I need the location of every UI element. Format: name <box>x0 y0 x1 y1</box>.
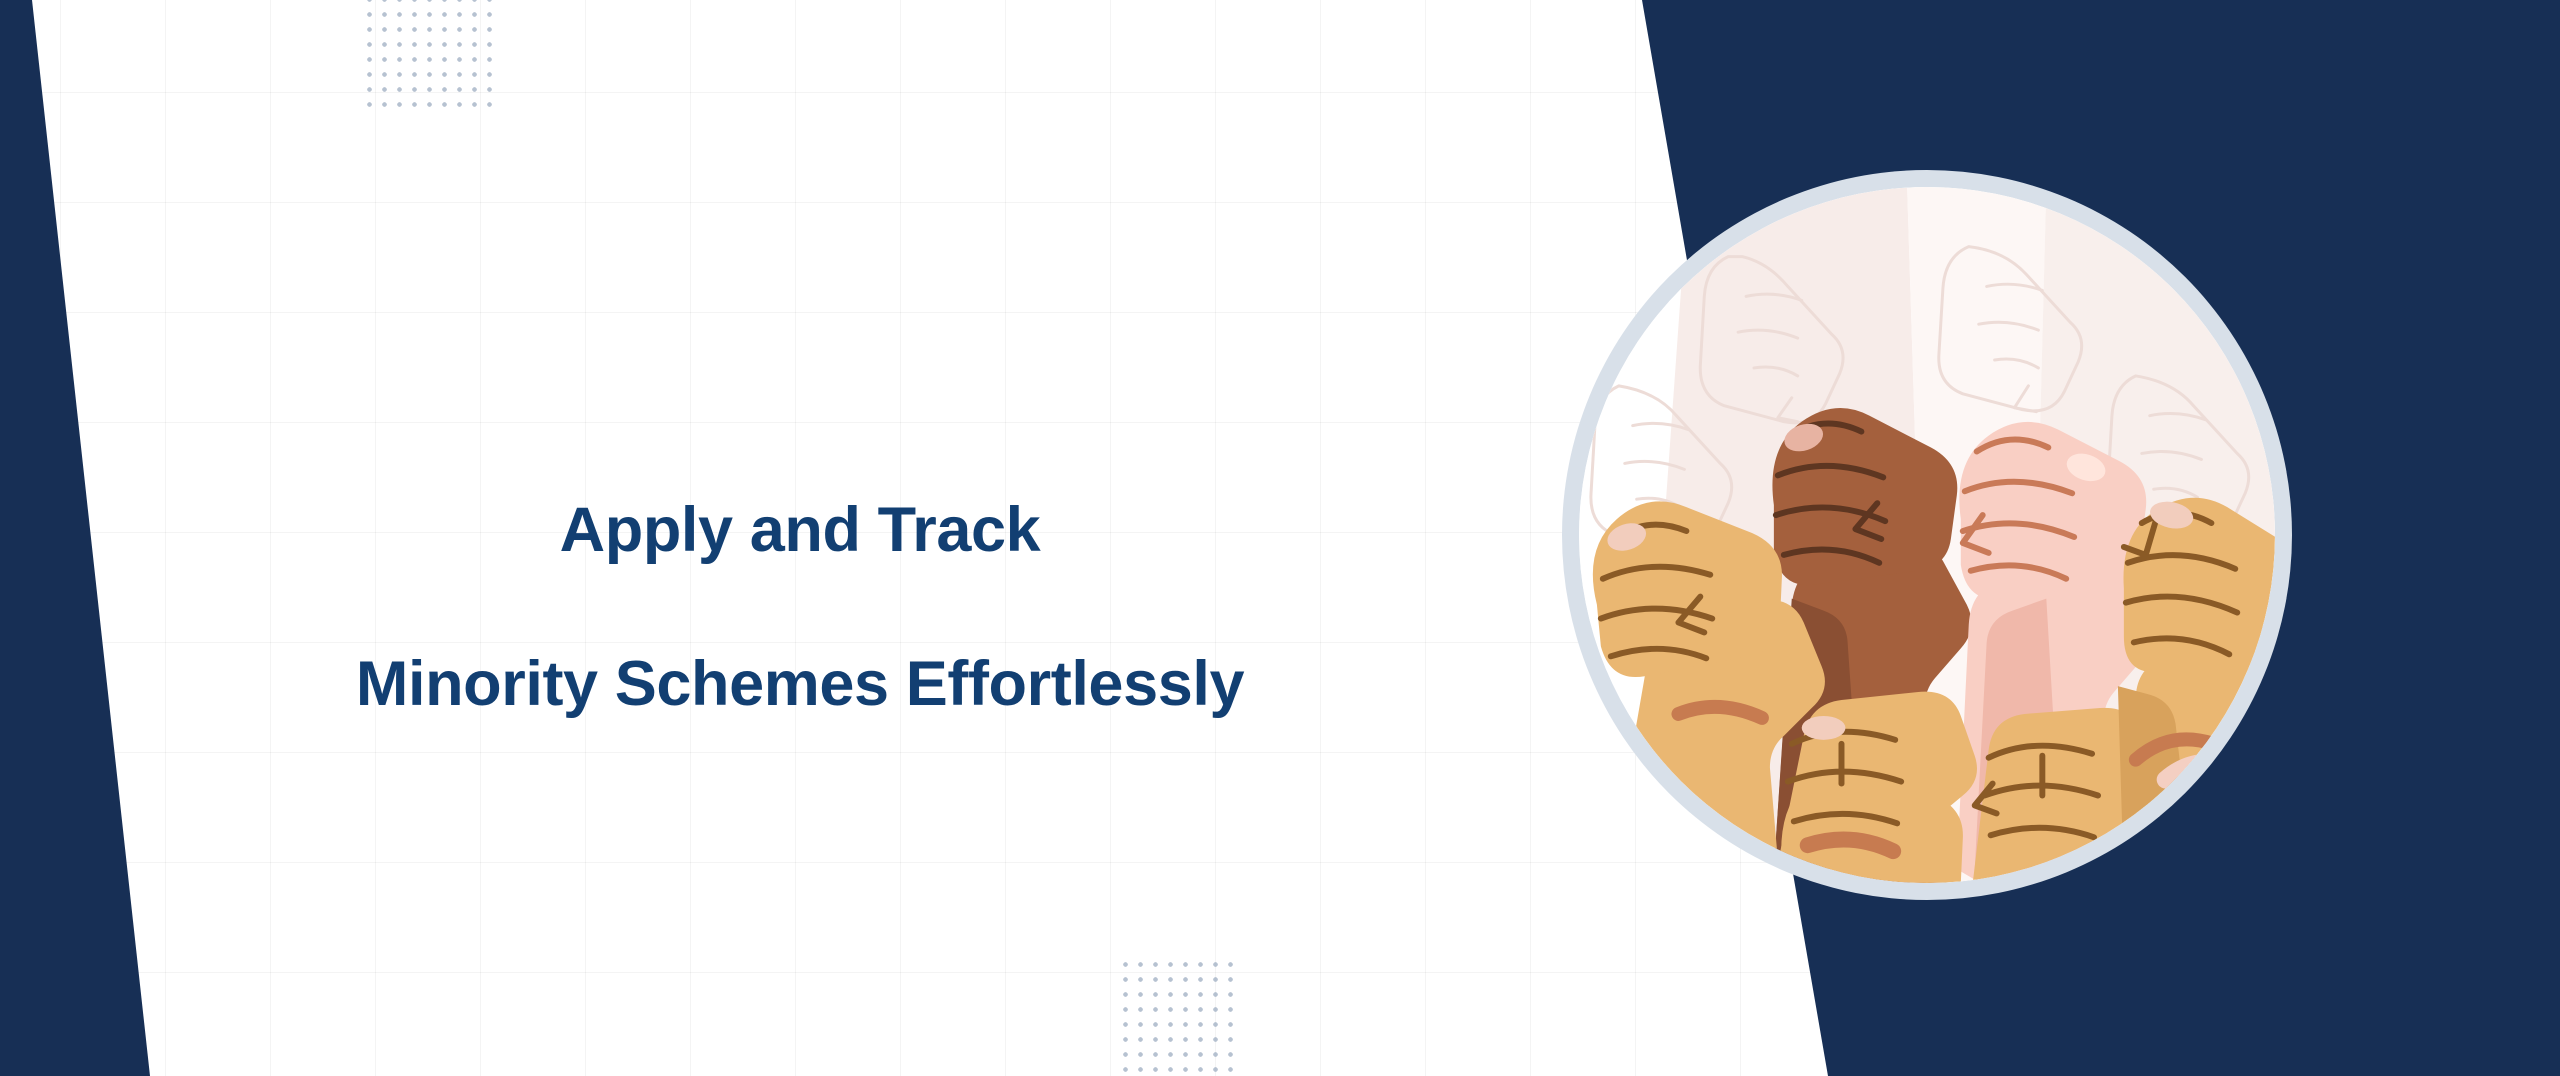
raised-fists-illustration <box>1579 187 2275 883</box>
dot-grid-bottom <box>1116 955 1240 1076</box>
raised-fists-icon <box>1579 187 2275 883</box>
hero-banner: Apply and Track Minority Schemes Effortl… <box>0 0 2560 1076</box>
illustration-frame <box>1562 170 2292 900</box>
page-title: Apply and Track Minority Schemes Effortl… <box>0 415 1600 799</box>
headline-line-1: Apply and Track <box>0 492 1600 569</box>
headline-line-2: Minority Schemes Effortlessly <box>0 646 1600 723</box>
dot-grid-top <box>360 0 500 110</box>
